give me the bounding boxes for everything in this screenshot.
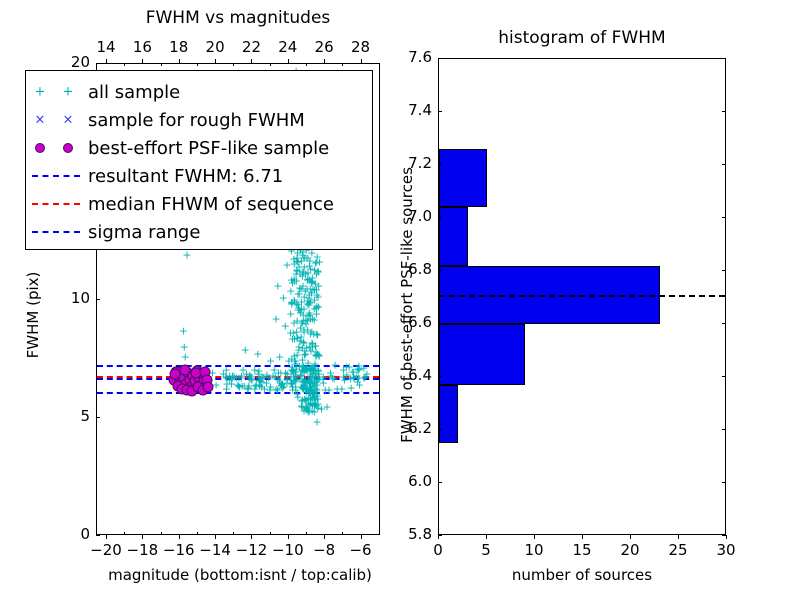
tick-mark-x-top [142,59,143,63]
tick-mark-minor [342,532,343,535]
scatter-point-all-sample: + [314,349,323,360]
dashed-line-icon [32,175,80,177]
legend-item-label: sigma range [88,222,200,243]
tick-mark-x [582,535,583,539]
scatter-point-all-sample: + [309,364,318,375]
dashed-line-icon [32,203,80,205]
tick-mark-y-right [722,270,726,271]
tick-mark-minor [342,63,343,66]
right-panel-title: histogram of FWHM [438,28,726,48]
tick-mark-y-left [96,63,100,64]
tick-mark-minor [306,63,307,66]
tick-mark-y-left [438,535,442,536]
scatter-point-all-sample: + [322,402,331,413]
legend: ++all sample××sample for rough FWHMbest-… [25,70,373,250]
scatter-point-all-sample: + [347,382,356,393]
tick-mark-y-left [438,376,442,377]
scatter-point-all-sample: + [301,348,310,359]
tick-mark-minor [161,532,162,535]
tick-label-y: 7.4 [376,101,432,119]
tick-mark-y-left [438,429,442,430]
tick-mark-y-left [96,417,100,418]
scatter-point-all-sample: + [254,369,263,380]
tick-mark-y-left [438,164,442,165]
tick-mark-x-bottom [106,535,107,539]
scatter-point-psf-sample [180,364,191,375]
scatter-point-all-sample: + [308,283,317,294]
scatter-point-all-sample: + [296,284,305,295]
tick-mark-y-right [722,535,726,536]
tick-mark-y-right [722,58,726,59]
tick-mark-y-right [722,482,726,483]
tick-mark-y-right [722,217,726,218]
legend-item-label: resultant FWHM: 6.71 [88,166,283,187]
legend-item: ××sample for rough FWHM [26,105,372,135]
scatter-point-all-sample: + [275,351,284,362]
scatter-point-all-sample: + [277,379,286,390]
tick-label-y-left: 10 [34,289,90,307]
legend-marker [26,161,88,191]
tick-mark-y-right [722,376,726,377]
scatter-point-all-sample: + [298,364,307,375]
histogram-bar [439,149,487,207]
left-panel-title: FWHM vs magnitudes [96,8,380,28]
legend-item: median FHWM of sequence [26,189,372,219]
tick-label-y: 6.0 [376,472,432,490]
tick-mark-y-left [438,217,442,218]
legend-marker: ×× [26,105,88,135]
legend-marker: ++ [26,77,88,107]
legend-item: resultant FWHM: 6.71 [26,161,372,191]
tick-label-y-left: 20 [34,53,90,71]
scatter-point-all-sample: + [352,370,361,381]
scatter-point-all-sample: + [179,325,188,336]
tick-label-x-bottom: −6 [331,541,391,559]
circle-marker-icon [63,143,73,153]
tick-mark-x-bottom [251,535,252,539]
legend-item-label: sample for rough FWHM [88,110,305,131]
scatter-point-all-sample: + [274,368,283,379]
scatter-point-all-sample: + [273,280,282,291]
tick-mark-x-bottom [142,535,143,539]
tick-mark-minor [124,63,125,66]
tick-mark-x-bottom [288,535,289,539]
tick-mark-x-bottom [324,535,325,539]
legend-item: ++all sample [26,77,372,107]
scatter-point-all-sample: + [234,380,243,391]
scatter-point-all-sample: + [303,298,312,309]
scatter-point-all-sample: + [182,250,191,261]
tick-mark-y-right [722,111,726,112]
tick-mark-minor [197,532,198,535]
tick-label-y: 5.8 [376,525,432,543]
legend-marker [26,189,88,219]
scatter-point-all-sample: + [305,386,314,397]
tick-mark-minor [270,63,271,66]
tick-mark-x [486,535,487,539]
tick-mark-x-top [288,59,289,63]
dashdot-line-icon [32,231,80,233]
tick-mark-y-right [722,429,726,430]
tick-label-y-left: 5 [34,407,90,425]
tick-mark-x-bottom [215,535,216,539]
left-panel-xlabel: magnitude (bottom:isnt / top:calib) [60,566,420,584]
legend-item-label: best-effort PSF-like sample [88,138,329,159]
scatter-point-all-sample: + [241,344,250,355]
scatter-point-all-sample: + [329,373,338,384]
legend-marker [26,217,88,247]
tick-mark-y-left [438,111,442,112]
tick-label-y-left: 0 [34,525,90,543]
scatter-point-all-sample: + [290,317,299,328]
tick-mark-x [678,535,679,539]
tick-mark-minor [270,532,271,535]
tick-label-y: 7.6 [376,48,432,66]
tick-mark-x [534,535,535,539]
scatter-point-psf-sample [202,382,213,393]
right-panel-axes [438,58,726,535]
tick-mark-x-bottom [361,535,362,539]
cross-marker-icon: × [35,114,46,127]
tick-mark-minor [197,63,198,66]
tick-mark-x-top [106,59,107,63]
tick-mark-x-bottom [179,535,180,539]
tick-label-x: 30 [696,541,756,559]
legend-item: sigma range [26,217,372,247]
tick-mark-x-top [324,59,325,63]
right-panel-ylabel: FWHM of best-effort PSF-like sources [398,145,416,465]
scatter-point-all-sample: + [331,359,340,370]
histogram-median-line [439,295,725,297]
tick-mark-y-left [438,58,442,59]
cross-marker-icon: × [63,114,74,127]
scatter-point-all-sample: + [291,385,300,396]
tick-mark-minor [306,532,307,535]
plus-marker-icon: + [63,86,74,99]
tick-mark-y-right [722,323,726,324]
legend-item-label: median FHWM of sequence [88,194,334,215]
tick-mark-minor [124,532,125,535]
right-panel-xlabel: number of sources [462,566,702,584]
scatter-point-all-sample: + [301,268,310,279]
plus-marker-icon: + [35,86,46,99]
histogram-bar [439,207,468,265]
scatter-point-all-sample: + [294,304,303,315]
scatter-point-all-sample: + [342,370,351,381]
figure-root: FWHM vs magnitudes +++++++++++++++++++++… [0,0,800,600]
histogram-bar [439,385,458,443]
tick-mark-y-left [438,323,442,324]
scatter-point-all-sample: + [312,256,321,267]
tick-mark-minor [161,63,162,66]
tick-mark-y-left [438,270,442,271]
tick-mark-x-top [215,59,216,63]
scatter-point-all-sample: + [319,372,328,383]
scatter-point-all-sample: + [303,405,312,416]
scatter-point-all-sample: + [250,384,259,395]
legend-item-label: all sample [88,82,180,103]
tick-mark-x [630,535,631,539]
left-panel-ylabel: FWHM (pix) [24,235,42,395]
legend-item: best-effort PSF-like sample [26,133,372,163]
scatter-point-all-sample: + [221,372,230,383]
tick-mark-y-right [722,164,726,165]
tick-mark-x-top [251,59,252,63]
tick-mark-x-top [361,59,362,63]
tick-mark-x [726,535,727,539]
right-panel-plot-area [439,59,725,534]
tick-mark-y-left [96,535,100,536]
tick-mark-minor [233,532,234,535]
scatter-point-all-sample: + [312,300,321,311]
legend-marker [26,133,88,163]
scatter-point-all-sample: + [253,349,262,360]
tick-mark-minor [233,63,234,66]
tick-mark-y-left [438,482,442,483]
scatter-point-all-sample: + [271,313,280,324]
tick-mark-y-left [96,299,100,300]
scatter-point-all-sample: + [181,351,190,362]
tick-mark-x-top [179,59,180,63]
circle-marker-icon [35,143,45,153]
histogram-bar [439,324,525,385]
